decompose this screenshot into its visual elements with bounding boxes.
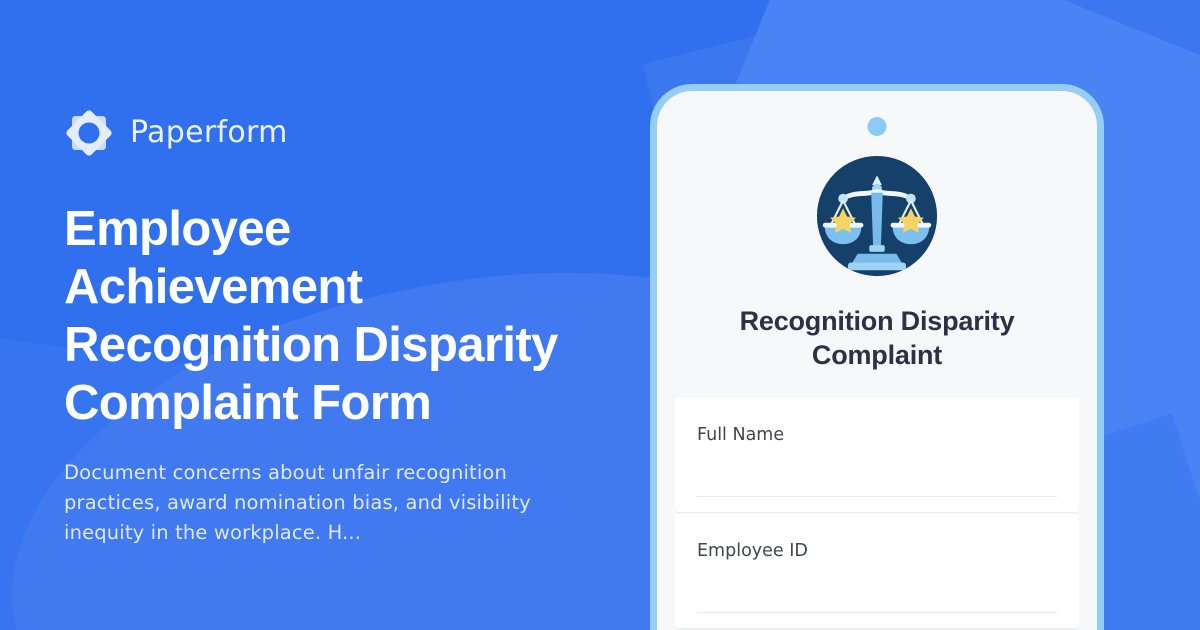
promo-canvas: Paperform Employee Achievement Recogniti… — [0, 0, 1200, 630]
hero-content: Paperform Employee Achievement Recogniti… — [64, 108, 624, 548]
page-title: Employee Achievement Recognition Dispari… — [64, 200, 584, 432]
form-fields: Full Name Employee ID — [657, 398, 1097, 630]
form-field-full-name[interactable]: Full Name — [675, 398, 1079, 512]
form-title: Recognition Disparity Complaint — [712, 304, 1042, 372]
brand-name: Paperform — [130, 118, 288, 148]
form-field-employee-id[interactable]: Employee ID — [675, 514, 1079, 628]
phone-screen: Recognition Disparity Complaint Full Nam… — [657, 91, 1097, 630]
field-label: Employee ID — [697, 540, 1057, 562]
field-input-underline[interactable] — [697, 612, 1057, 613]
paperform-logo-icon — [64, 108, 114, 158]
field-input-underline[interactable] — [697, 496, 1057, 497]
page-description: Document concerns about unfair recogniti… — [64, 458, 534, 548]
field-label: Full Name — [697, 424, 1057, 446]
phone-mockup: Recognition Disparity Complaint Full Nam… — [650, 84, 1104, 630]
brand-lockup: Paperform — [64, 108, 624, 158]
scales-of-justice-icon — [815, 154, 939, 278]
